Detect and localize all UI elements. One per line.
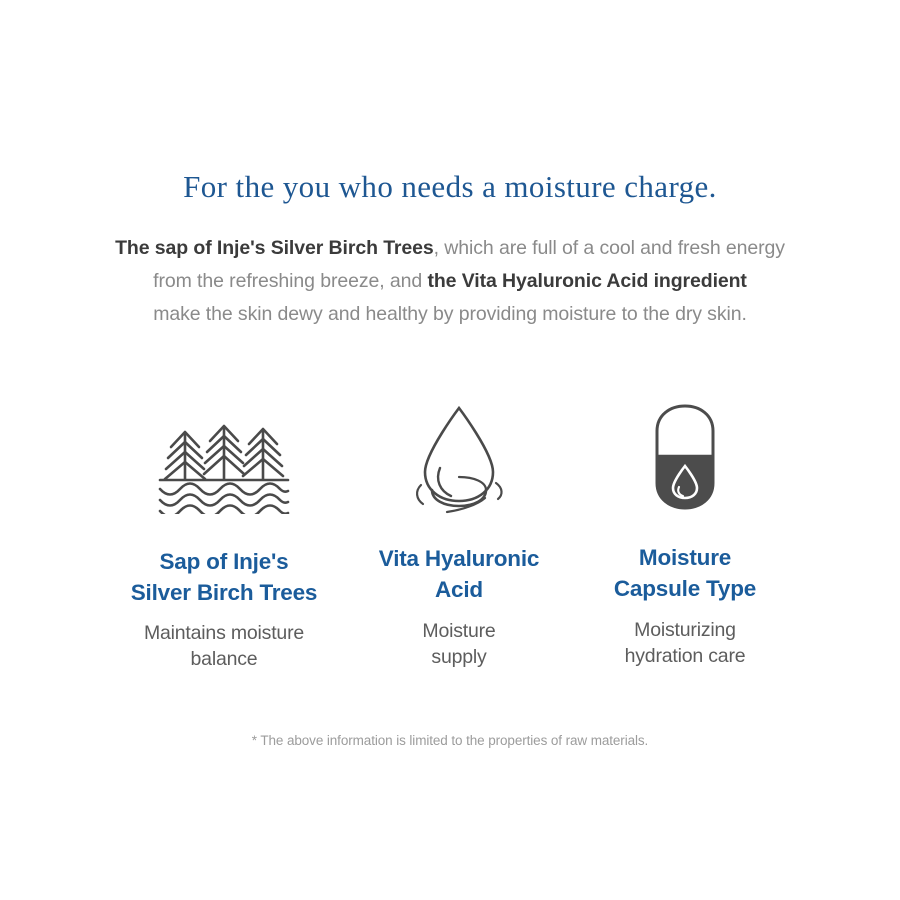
feature-title-line-2: Silver Birch Trees xyxy=(131,577,318,608)
feature-title-line-1: Moisture xyxy=(614,542,756,573)
water-droplet-ripple-icon xyxy=(399,398,519,518)
feature-item-moisture-capsule: Moisture Capsule Type Moisturizing hydra… xyxy=(570,398,800,669)
feature-title-line-2: Capsule Type xyxy=(614,573,756,604)
lead-paragraph: The sap of Inje's Silver Birch Trees, wh… xyxy=(50,232,850,331)
feature-desc-vita-hyaluronic-acid: Moisture supply xyxy=(422,618,495,670)
feature-title-vita-hyaluronic-acid: Vita Hyaluronic Acid xyxy=(379,543,539,605)
feature-desc-line-2: hydration care xyxy=(625,643,746,669)
feature-title-moisture-capsule: Moisture Capsule Type xyxy=(614,542,756,604)
feature-desc-silver-birch: Maintains moisture balance xyxy=(144,620,304,672)
lead-line-3: make the skin dewy and healthy by provid… xyxy=(50,298,850,331)
feature-list: Sap of Inje's Silver Birch Trees Maintai… xyxy=(100,398,800,672)
feature-desc-moisture-capsule: Moisturizing hydration care xyxy=(625,617,746,669)
lead-line-2: from the refreshing breeze, and the Vita… xyxy=(50,265,850,298)
feature-title-line-1: Vita Hyaluronic xyxy=(379,543,539,574)
feature-item-silver-birch: Sap of Inje's Silver Birch Trees Maintai… xyxy=(100,398,348,672)
capsule-droplet-icon xyxy=(650,398,720,518)
page-title: For the you who needs a moisture charge. xyxy=(0,168,900,206)
lead-line-1: The sap of Inje's Silver Birch Trees, wh… xyxy=(50,232,850,265)
feature-desc-line-1: Moisture xyxy=(422,618,495,644)
lead-rest-1: , which are full of a cool and fresh ene… xyxy=(434,237,785,259)
lead-pre-2: from the refreshing breeze, and xyxy=(153,270,427,292)
lead-strong-1: The sap of Inje's Silver Birch Trees xyxy=(115,237,434,259)
feature-desc-line-1: Maintains moisture xyxy=(144,620,304,646)
feature-desc-line-2: balance xyxy=(144,646,304,672)
feature-desc-line-1: Moisturizing xyxy=(625,617,746,643)
feature-title-line-2: Acid xyxy=(379,574,539,605)
footnote-disclaimer: * The above information is limited to th… xyxy=(0,733,900,748)
pine-trees-over-water-icon xyxy=(154,398,294,518)
feature-title-line-1: Sap of Inje's xyxy=(131,546,318,577)
feature-item-vita-hyaluronic-acid: Vita Hyaluronic Acid Moisture supply xyxy=(348,398,570,670)
lead-strong-2: the Vita Hyaluronic Acid ingredient xyxy=(427,270,746,292)
feature-title-silver-birch: Sap of Inje's Silver Birch Trees xyxy=(131,546,318,608)
infographic-page: For the you who needs a moisture charge.… xyxy=(0,0,900,900)
feature-desc-line-2: supply xyxy=(422,644,495,670)
